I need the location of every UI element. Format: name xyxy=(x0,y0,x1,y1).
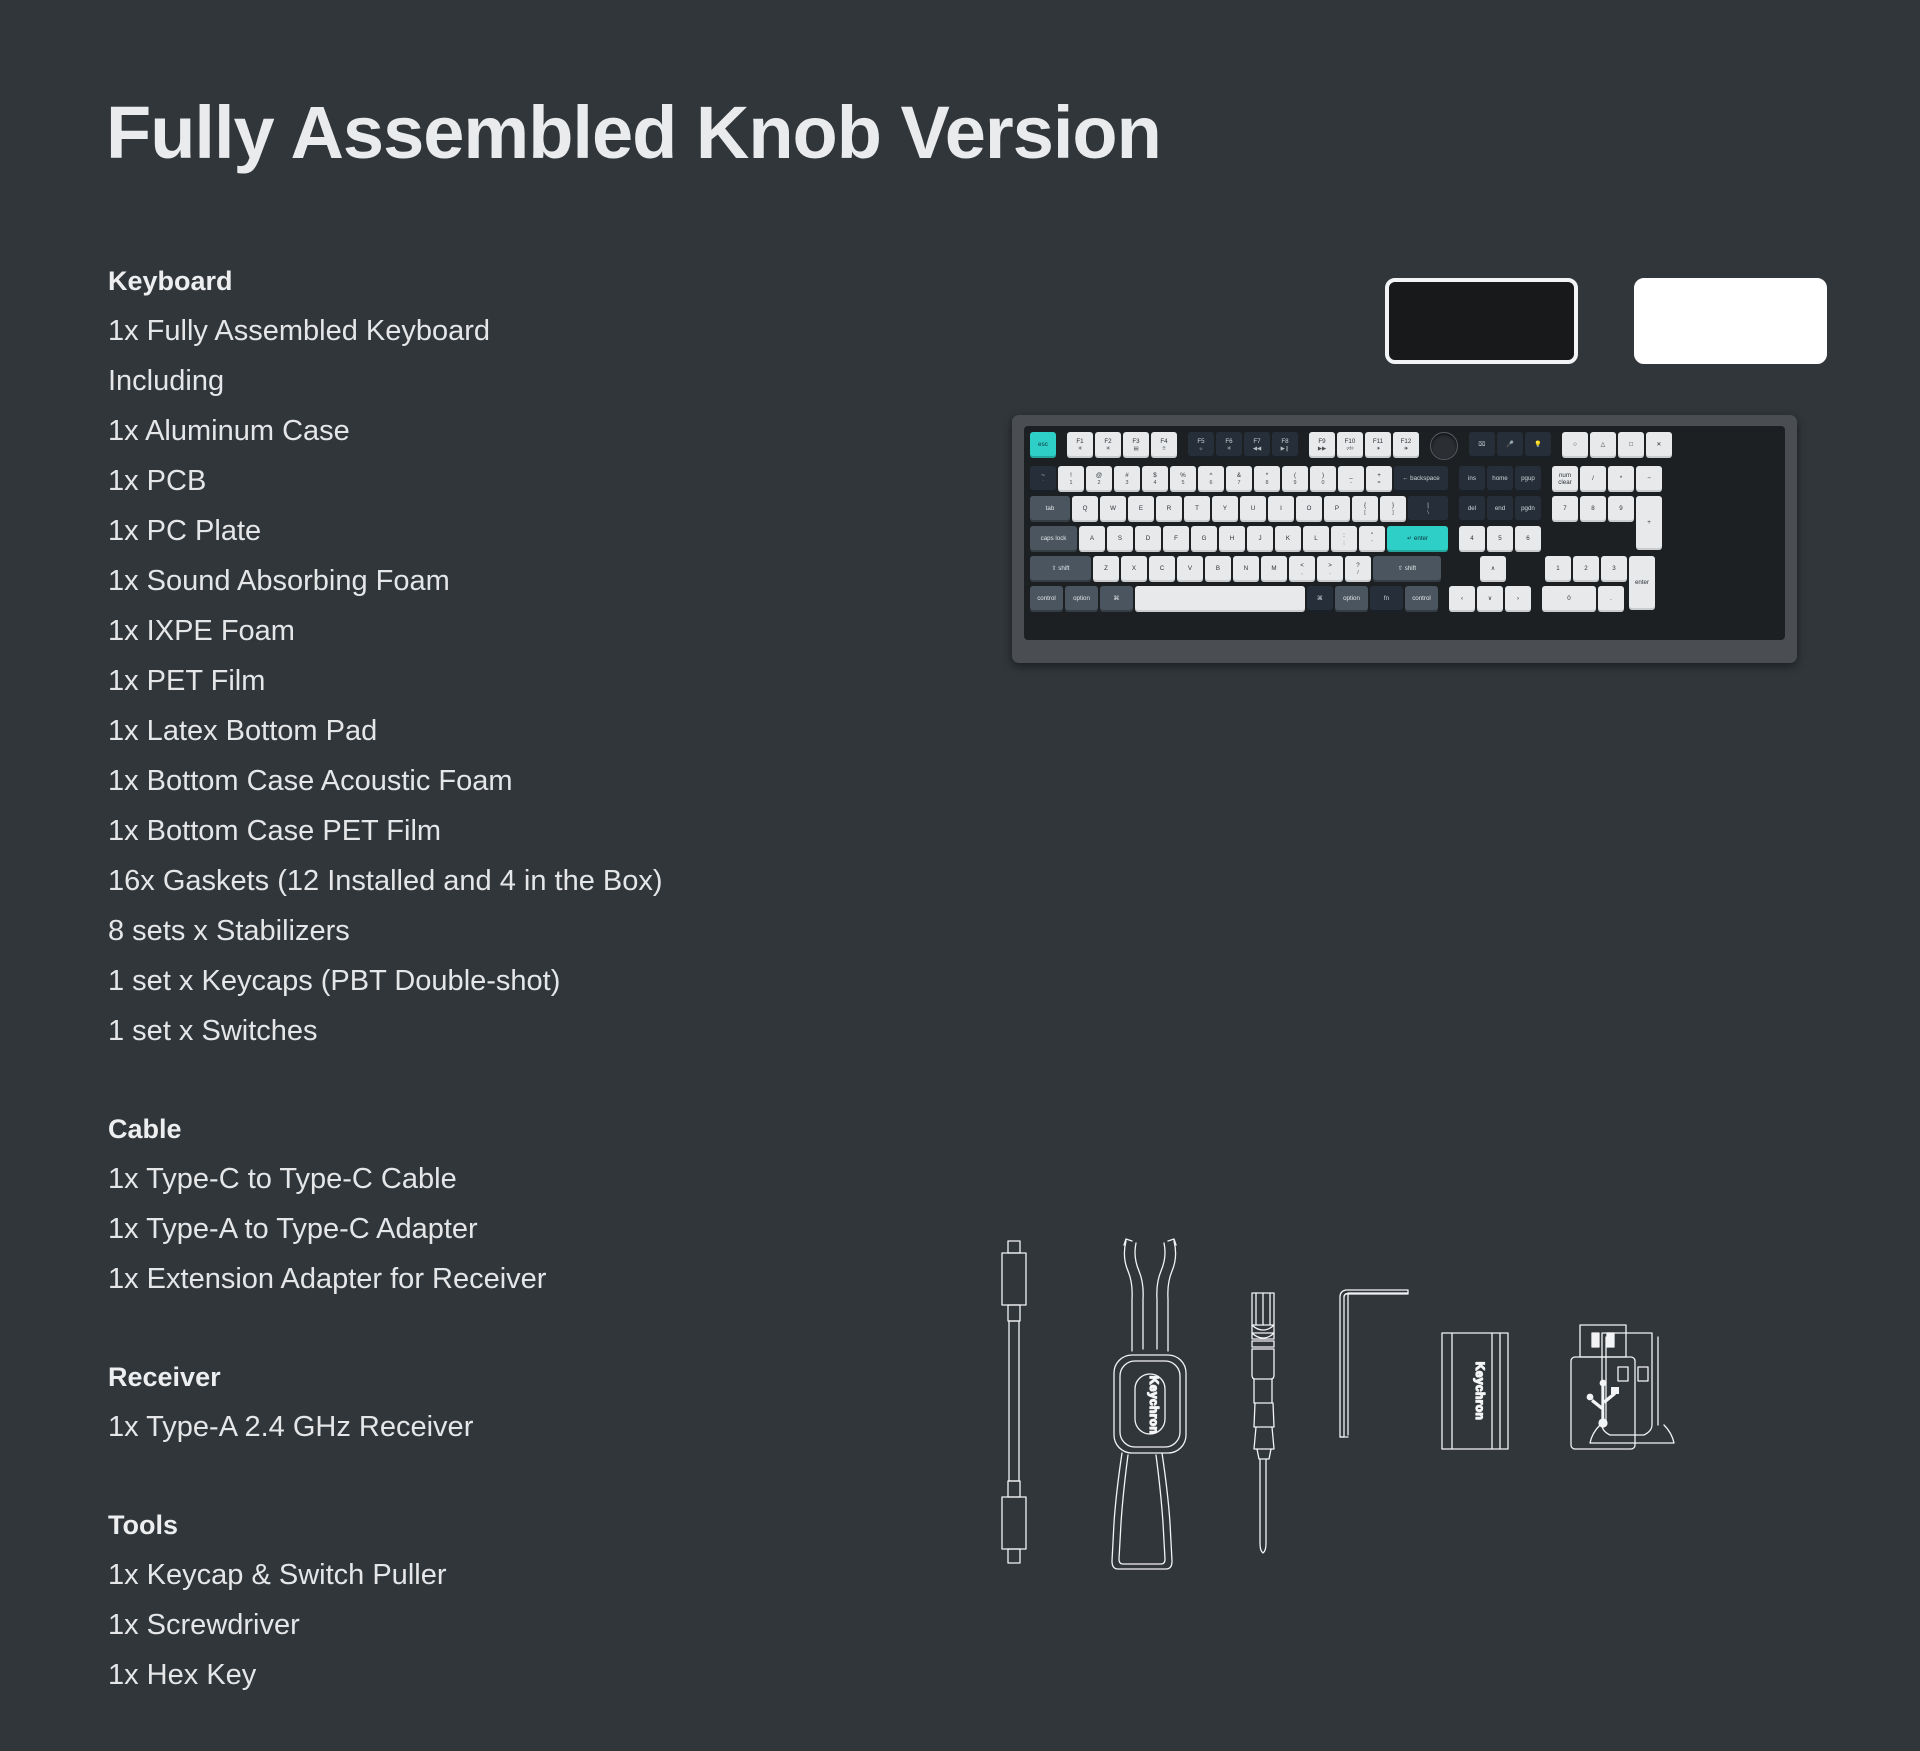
keyboard-key[interactable]: F5☼ xyxy=(1188,432,1214,458)
key-legend: N xyxy=(1244,565,1248,572)
key-legend: num clear xyxy=(1552,472,1578,486)
keyboard-key[interactable]: F xyxy=(1163,526,1189,552)
keyboard-key[interactable]: #3 xyxy=(1114,466,1140,492)
key-legend: pgdn xyxy=(1521,505,1535,512)
keyboard-key[interactable]: F8▶❙ xyxy=(1272,432,1298,458)
key-legend: ⇧ shift xyxy=(1398,565,1416,572)
key-sublabel: - xyxy=(1350,480,1352,486)
keyboard-key[interactable]: 1 xyxy=(1545,556,1571,582)
key-sublabel: = xyxy=(1377,480,1380,486)
keyboard-key[interactable]: >. xyxy=(1317,556,1343,582)
keyboard-key[interactable]: V xyxy=(1177,556,1203,582)
keyboard-gap xyxy=(1058,432,1067,460)
keyboard-key[interactable]: option xyxy=(1065,586,1098,612)
key-label: W xyxy=(1110,505,1116,512)
keyboard-key[interactable]: end xyxy=(1487,496,1513,522)
keyboard-key[interactable]: home xyxy=(1487,466,1513,492)
key-label: option xyxy=(1073,595,1090,602)
spec-item: 1x Sound Absorbing Foam xyxy=(108,556,868,606)
key-legend: 6 xyxy=(1526,535,1529,542)
keyboard-key[interactable]: 0 xyxy=(1542,586,1596,612)
key-legend: += xyxy=(1377,472,1381,486)
key-sublabel: 7 xyxy=(1237,480,1240,486)
keyboard-gap xyxy=(1179,432,1188,460)
keyboard-key[interactable]: L xyxy=(1303,526,1329,552)
key-label: ⇧ shift xyxy=(1398,565,1416,572)
key-legend: X xyxy=(1132,565,1136,572)
keyboard-key[interactable]: F4⠿ xyxy=(1151,432,1177,458)
keyboard-key[interactable]: <, xyxy=(1289,556,1315,582)
key-legend: C xyxy=(1160,565,1164,572)
spec-item: 8 sets x Stabilizers xyxy=(108,906,868,956)
key-label: F3 xyxy=(1132,438,1139,445)
key-label: 7 xyxy=(1563,505,1566,512)
key-label: Z xyxy=(1104,565,1108,572)
key-label: @ xyxy=(1096,472,1102,479)
keyboard-key[interactable]: ∧ xyxy=(1480,556,1506,582)
keyboard-key[interactable]: F1☀ xyxy=(1067,432,1093,458)
extension-adapter-brand-label: Keychron xyxy=(1473,1362,1487,1421)
page-title: Fully Assembled Knob Version xyxy=(106,90,1161,175)
key-legend: F3▤ xyxy=(1132,438,1139,452)
keyboard-key[interactable]: − xyxy=(1636,466,1662,492)
keyboard-key[interactable]: ⌧ xyxy=(1469,432,1495,458)
receiver-dongle-icon xyxy=(1590,1333,1674,1443)
keyboard-key[interactable]: {[ xyxy=(1352,496,1378,522)
key-sublabel: 1 xyxy=(1070,480,1073,486)
key-legend: ~` xyxy=(1041,472,1045,486)
keyboard-key[interactable]: B xyxy=(1205,556,1231,582)
key-label: 5 xyxy=(1498,535,1501,542)
keyboard-key[interactable]: ⇧ shift xyxy=(1373,556,1441,582)
keyboard-key[interactable]: . xyxy=(1598,586,1624,612)
keyboard-key[interactable]: ~` xyxy=(1030,466,1056,492)
keyboard-key[interactable]: R xyxy=(1156,496,1182,522)
keyboard-key[interactable]: △ xyxy=(1590,432,1616,458)
key-legend: J xyxy=(1258,535,1261,542)
key-label: pgdn xyxy=(1521,505,1535,512)
key-label: I xyxy=(1280,505,1282,512)
key-label: B xyxy=(1216,565,1220,572)
spec-item: 1x Type-A 2.4 GHz Receiver xyxy=(108,1402,868,1452)
key-label: { xyxy=(1364,502,1366,509)
key-label: del xyxy=(1468,505,1476,512)
key-sublabel: 8 xyxy=(1266,480,1269,486)
key-sublabel: ☀ xyxy=(1078,446,1083,452)
keyboard-key[interactable]: |\ xyxy=(1408,496,1448,522)
keyboard-key[interactable]: %5 xyxy=(1170,466,1196,492)
keyboard-key[interactable]: _- xyxy=(1338,466,1364,492)
key-sublabel: \ xyxy=(1427,510,1429,516)
key-legend: F10🕬 xyxy=(1345,438,1356,452)
spec-item: 1x Aluminum Case xyxy=(108,406,868,456)
spec-item: 1x Extension Adapter for Receiver xyxy=(108,1254,868,1304)
key-label: D xyxy=(1146,535,1150,542)
key-label: C xyxy=(1160,565,1164,572)
key-legend: 0 xyxy=(1567,595,1570,602)
key-legend: ∧ xyxy=(1491,565,1496,572)
keyboard-gap xyxy=(1543,496,1552,550)
key-legend: >. xyxy=(1328,562,1332,576)
key-legend: ⌘ xyxy=(1113,595,1119,602)
key-legend: . xyxy=(1610,595,1612,602)
key-label: F1 xyxy=(1076,438,1083,445)
key-legend: F12🕪 xyxy=(1401,438,1412,452)
keyboard-key[interactable]: 💡 xyxy=(1525,432,1551,458)
key-label: ~ xyxy=(1041,472,1045,479)
keyboard-key[interactable]: J xyxy=(1247,526,1273,552)
keyboard-key[interactable]: pgup xyxy=(1515,466,1541,492)
keyboard-key[interactable]: fn xyxy=(1370,586,1403,612)
keyboard-key[interactable]: "' xyxy=(1359,526,1385,552)
key-label: + xyxy=(1377,472,1381,479)
key-sublabel: 0 xyxy=(1322,480,1325,486)
key-label: 3 xyxy=(1612,565,1615,572)
puller-brand-label: Keychron xyxy=(1147,1376,1161,1435)
key-sublabel: ☀ xyxy=(1106,446,1111,452)
keyboard-key[interactable]: Y xyxy=(1212,496,1238,522)
key-label: 0 xyxy=(1567,595,1570,602)
key-legend: △ xyxy=(1601,441,1606,448)
key-sublabel: 🕪 xyxy=(1404,446,1407,452)
keyboard-key[interactable]: pgdn xyxy=(1515,496,1541,522)
key-label: M xyxy=(1271,565,1276,572)
keyboard-key[interactable]: * xyxy=(1608,466,1634,492)
key-legend: *8 xyxy=(1266,472,1269,486)
key-label: F7 xyxy=(1253,438,1260,445)
keyboard-key[interactable]: K xyxy=(1275,526,1301,552)
keyboard-key[interactable]: F3▤ xyxy=(1123,432,1149,458)
keyboard-key[interactable]: ○ xyxy=(1562,432,1588,458)
keyboard-key[interactable]: del xyxy=(1459,496,1485,522)
key-legend: □ xyxy=(1629,441,1633,448)
key-label: ( xyxy=(1294,472,1296,479)
key-legend: ins xyxy=(1468,475,1476,482)
key-label: option xyxy=(1343,595,1360,602)
key-legend: 1 xyxy=(1556,565,1559,572)
key-legend: F4⠿ xyxy=(1160,438,1167,452)
key-sublabel: 3 xyxy=(1125,480,1128,486)
key-legend: L xyxy=(1314,535,1317,542)
keyboard-key[interactable]: &7 xyxy=(1226,466,1252,492)
key-label: F2 xyxy=(1104,438,1111,445)
rotary-knob[interactable] xyxy=(1430,432,1458,460)
key-legend: ⇧ shift xyxy=(1051,565,1069,572)
keyboard-key[interactable]: *8 xyxy=(1254,466,1280,492)
keyboard-key[interactable]: @2 xyxy=(1086,466,1112,492)
key-legend: F xyxy=(1174,535,1178,542)
key-legend: U xyxy=(1251,505,1255,512)
key-label: control xyxy=(1037,595,1056,602)
keyboard-key[interactable]: T xyxy=(1184,496,1210,522)
key-label: R xyxy=(1167,505,1171,512)
keyboard-key[interactable]: control xyxy=(1030,586,1063,612)
keyboard-key[interactable]: 3 xyxy=(1601,556,1627,582)
key-legend: Q xyxy=(1083,505,1088,512)
keyboard-key[interactable]: 2 xyxy=(1573,556,1599,582)
keyboard-key[interactable]: Q xyxy=(1072,496,1098,522)
keyboard-key[interactable]: caps lock xyxy=(1030,526,1077,552)
key-label: control xyxy=(1412,595,1431,602)
key-label: * xyxy=(1620,475,1622,482)
keyboard-key[interactable]: control xyxy=(1405,586,1438,612)
key-legend: {[ xyxy=(1364,502,1366,516)
keyboard-key[interactable]: E xyxy=(1128,496,1154,522)
key-label: ∨ xyxy=(1488,595,1493,602)
key-label: S xyxy=(1118,535,1122,542)
keyboard-key[interactable]: F2☀ xyxy=(1095,432,1121,458)
key-sublabel: 5 xyxy=(1181,480,1184,486)
keyboard-key[interactable]: F10🕬 xyxy=(1337,432,1363,458)
key-label: ⌘ xyxy=(1113,595,1119,602)
key-label: 8 xyxy=(1591,505,1594,512)
keyboard-key[interactable]: ^6 xyxy=(1198,466,1224,492)
key-legend: control xyxy=(1412,595,1431,602)
keyboard-key[interactable]: F6☀ xyxy=(1216,432,1242,458)
spec-item: 1x PCB xyxy=(108,456,868,506)
key-sublabel: / xyxy=(1357,570,1359,576)
product-spec-page: Fully Assembled Knob Version Keyboard1x … xyxy=(0,0,1920,1751)
spec-item: 1x Type-C to Type-C Cable xyxy=(108,1154,868,1204)
keyboard-key[interactable]: W xyxy=(1100,496,1126,522)
keyboard-plate: escF1☀F2☀F3▤F4⠿F5☼F6☀F7◀◀F8▶❙F9▶▶F10🕬F11… xyxy=(1024,426,1785,640)
key-label: enter xyxy=(1635,579,1649,586)
color-swatches xyxy=(1385,278,1827,364)
spec-item: 1x Hex Key xyxy=(108,1650,868,1700)
key-label: F11 xyxy=(1373,438,1383,445)
key-label: } xyxy=(1392,502,1394,509)
key-legend: F6☀ xyxy=(1225,438,1232,452)
key-label: _ xyxy=(1349,472,1352,479)
key-label: 💡 xyxy=(1534,441,1542,448)
keyboard-key[interactable]: F11🕩 xyxy=(1365,432,1391,458)
key-sublabel: ' xyxy=(1371,540,1372,546)
keyboard-key[interactable]: ✕ xyxy=(1646,432,1672,458)
spec-section-heading: Tools xyxy=(108,1500,868,1550)
key-legend: ○ xyxy=(1573,441,1577,448)
keyboard-key[interactable]: ⌘ xyxy=(1307,586,1333,612)
spec-section-heading: Keyboard xyxy=(108,256,868,306)
keyboard-key[interactable]: F7◀◀ xyxy=(1244,432,1270,458)
keyboard-key[interactable]: M xyxy=(1261,556,1287,582)
keyboard-key[interactable]: 4 xyxy=(1459,526,1485,552)
key-label: E xyxy=(1139,505,1143,512)
keyboard-key[interactable]: › xyxy=(1505,586,1531,612)
key-legend: + xyxy=(1647,519,1651,526)
key-label: F6 xyxy=(1225,438,1232,445)
key-label: F10 xyxy=(1345,438,1356,445)
key-legend: E xyxy=(1139,505,1143,512)
key-label: ⌘ xyxy=(1317,595,1323,602)
key-legend: ← backspace xyxy=(1402,475,1440,482)
usb-type-a-adapter-icon xyxy=(1571,1325,1635,1449)
keyboard-key[interactable]: 8 xyxy=(1580,496,1606,522)
spec-item: 1x Latex Bottom Pad xyxy=(108,706,868,756)
key-label: ! xyxy=(1070,472,1072,479)
key-legend: fn xyxy=(1384,595,1389,602)
keyboard-key[interactable]: 🎤 xyxy=(1497,432,1523,458)
spec-section-gap xyxy=(108,1452,868,1500)
key-label: U xyxy=(1251,505,1255,512)
key-legend: F11🕩 xyxy=(1373,438,1383,452)
keyboard-key[interactable]: / xyxy=(1580,466,1606,492)
keyboard-row-function: escF1☀F2☀F3▤F4⠿F5☼F6☀F7◀◀F8▶❙F9▶▶F10🕬F11… xyxy=(1030,432,1674,460)
key-label: ∧ xyxy=(1491,565,1496,572)
keyboard-key[interactable]: ⌘ xyxy=(1100,586,1133,612)
key-label: 6 xyxy=(1526,535,1529,542)
key-sublabel: ▶❙ xyxy=(1281,446,1290,452)
key-label: L xyxy=(1314,535,1317,542)
keyboard-key[interactable]: ⇧ shift xyxy=(1030,556,1091,582)
keyboard-key[interactable]: += xyxy=(1366,466,1392,492)
keyboard-key[interactable]: num clear xyxy=(1552,466,1578,492)
keyboard-key[interactable]: enter xyxy=(1629,556,1655,610)
key-label: Q xyxy=(1083,505,1088,512)
key-label: F5 xyxy=(1197,438,1204,445)
key-label: F9 xyxy=(1318,438,1325,445)
keyboard-key[interactable]: N xyxy=(1233,556,1259,582)
key-label: 2 xyxy=(1584,565,1587,572)
key-legend: )0 xyxy=(1322,472,1325,486)
keyboard-key[interactable]: )0 xyxy=(1310,466,1336,492)
keyboard-key[interactable]: A xyxy=(1079,526,1105,552)
key-sublabel: ] xyxy=(1392,510,1394,516)
keyboard-key[interactable]: 7 xyxy=(1552,496,1578,522)
keyboard-key[interactable]: 6 xyxy=(1515,526,1541,552)
keyboard-key[interactable]: C xyxy=(1149,556,1175,582)
key-legend: end xyxy=(1495,505,1505,512)
keyboard-key[interactable]: G xyxy=(1191,526,1217,552)
key-legend: caps lock xyxy=(1041,535,1067,542)
key-legend: "' xyxy=(1371,532,1373,546)
black-swatch[interactable] xyxy=(1385,278,1578,364)
key-label: % xyxy=(1180,472,1186,479)
keyboard-key[interactable]: tab xyxy=(1030,496,1070,522)
keyboard-key[interactable]: 5 xyxy=(1487,526,1513,552)
keyboard-key[interactable]: :; xyxy=(1331,526,1357,552)
keyboard-key[interactable]: option xyxy=(1335,586,1368,612)
keyboard-key[interactable]: H xyxy=(1219,526,1245,552)
keyboard-key[interactable]: X xyxy=(1121,556,1147,582)
key-label: F12 xyxy=(1401,438,1412,445)
keyboard-key[interactable]: esc xyxy=(1030,432,1056,458)
keyboard-key[interactable]: I xyxy=(1268,496,1294,522)
key-legend: option xyxy=(1073,595,1090,602)
keyboard-key[interactable]: O xyxy=(1296,496,1322,522)
keyboard-key[interactable]: ‹ xyxy=(1449,586,1475,612)
spec-list: Keyboard1x Fully Assembled KeyboardInclu… xyxy=(108,256,868,1700)
keyboard-key[interactable]: ins xyxy=(1459,466,1485,492)
key-legend: 4 xyxy=(1470,535,1473,542)
keyboard-key[interactable]: F12🕪 xyxy=(1393,432,1419,458)
keyboard-key[interactable]: S xyxy=(1107,526,1133,552)
key-legend: control xyxy=(1037,595,1056,602)
key-label: F xyxy=(1174,535,1178,542)
key-legend: − xyxy=(1647,475,1651,482)
key-sublabel: 4 xyxy=(1153,480,1156,486)
keyboard-key[interactable]: F9▶▶ xyxy=(1309,432,1335,458)
key-legend: ⌧ xyxy=(1478,441,1485,448)
spec-section-gap xyxy=(108,1056,868,1104)
keyboard-image: escF1☀F2☀F3▤F4⠿F5☼F6☀F7◀◀F8▶❙F9▶▶F10🕬F11… xyxy=(1012,415,1797,663)
keyboard-key[interactable]: □ xyxy=(1618,432,1644,458)
key-legend: (9 xyxy=(1294,472,1297,486)
keyboard-key[interactable]: D xyxy=(1135,526,1161,552)
key-sublabel: 🕬 xyxy=(1347,446,1354,452)
keyboard-key[interactable]: !1 xyxy=(1058,466,1084,492)
key-legend: W xyxy=(1110,505,1116,512)
key-sublabel: , xyxy=(1301,570,1303,576)
key-legend: del xyxy=(1468,505,1476,512)
key-label: end xyxy=(1495,505,1505,512)
key-legend: / xyxy=(1592,475,1594,482)
keyboard-key[interactable]: Z xyxy=(1093,556,1119,582)
keyboard-key[interactable] xyxy=(1135,586,1305,612)
key-label: △ xyxy=(1601,441,1606,448)
key-label: ^ xyxy=(1210,472,1213,479)
key-legend: $4 xyxy=(1153,472,1156,486)
key-label: N xyxy=(1244,565,1248,572)
key-label: 🎤 xyxy=(1506,441,1514,448)
key-legend: * xyxy=(1620,475,1622,482)
keyboard-key[interactable]: + xyxy=(1636,496,1662,550)
key-label: ○ xyxy=(1573,441,1577,448)
key-legend: 2 xyxy=(1584,565,1587,572)
key-legend: M xyxy=(1271,565,1276,572)
hex-key-icon xyxy=(1340,1290,1408,1437)
key-sublabel: ` xyxy=(1042,480,1044,486)
spec-item: Including xyxy=(108,356,868,406)
key-label: J xyxy=(1258,535,1261,542)
keyboard-key[interactable]: 9 xyxy=(1608,496,1634,522)
key-label: ✕ xyxy=(1656,441,1661,448)
key-label: " xyxy=(1371,532,1373,539)
key-legend: ∨ xyxy=(1488,595,1493,602)
spec-item: 1 set x Keycaps (PBT Double-shot) xyxy=(108,956,868,1006)
key-legend: P xyxy=(1335,505,1339,512)
keyboard-key[interactable]: }] xyxy=(1380,496,1406,522)
key-legend: H xyxy=(1230,535,1234,542)
key-legend: 💡 xyxy=(1534,441,1542,448)
keyboard-key[interactable]: (9 xyxy=(1282,466,1308,492)
key-sublabel: ⠿ xyxy=(1162,446,1166,452)
key-label: 9 xyxy=(1619,505,1622,512)
keyboard-key[interactable]: ↵ enter xyxy=(1387,526,1448,552)
keyboard-gap xyxy=(1440,586,1449,612)
keyboard-key[interactable]: $4 xyxy=(1142,466,1168,492)
spec-item: 16x Gaskets (12 Installed and 4 in the B… xyxy=(108,856,868,906)
key-sublabel: [ xyxy=(1364,510,1366,516)
keyboard-key[interactable]: ← backspace xyxy=(1394,466,1448,492)
key-label: tab xyxy=(1046,505,1055,512)
keyboard-key[interactable]: P xyxy=(1324,496,1350,522)
keyboard-key[interactable]: ∨ xyxy=(1477,586,1503,612)
key-legend: ‹ xyxy=(1461,595,1463,602)
key-label: # xyxy=(1125,472,1128,479)
key-legend: !1 xyxy=(1070,472,1073,486)
spec-item: 1x Keycap & Switch Puller xyxy=(108,1550,868,1600)
key-sublabel: ☀ xyxy=(1227,446,1232,452)
white-swatch[interactable] xyxy=(1634,278,1827,364)
key-label: ↵ enter xyxy=(1407,535,1428,542)
keyboard-key[interactable]: U xyxy=(1240,496,1266,522)
keyboard-key[interactable]: ?/ xyxy=(1345,556,1371,582)
key-label: ⇧ shift xyxy=(1051,565,1069,572)
spec-item: 1x Bottom Case PET Film xyxy=(108,806,868,856)
keyboard-gap xyxy=(1450,466,1459,492)
key-label: : xyxy=(1343,532,1345,539)
key-legend: @2 xyxy=(1096,472,1102,486)
